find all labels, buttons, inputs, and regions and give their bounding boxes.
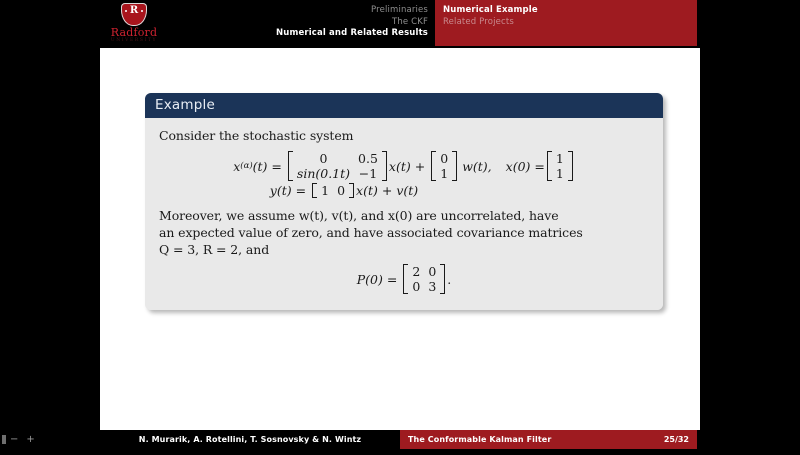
nav-item-numerical-example[interactable]: Numerical Example xyxy=(443,5,683,17)
equation-output: y(t) = 1 0 x(t) xyxy=(159,183,649,198)
bracket-right-icon xyxy=(440,264,445,294)
matrix-a-cell-1-0: sin(0.1t) xyxy=(293,166,354,181)
nav-subsections-right: Numerical Example Related Projects xyxy=(443,5,683,28)
equation-output-x-of-t: x(t) xyxy=(356,183,378,198)
viewer-drag-handle[interactable] xyxy=(2,435,6,444)
matrix-x0: 1 1 xyxy=(547,151,573,181)
equation-output-equals: = xyxy=(292,183,310,198)
equation-covariance-period: . xyxy=(447,272,451,287)
nav-item-the-ckf[interactable]: The CKF xyxy=(180,17,428,29)
assumptions-paragraph: Moreover, we assume w(t), v(t), and x(0)… xyxy=(159,207,649,258)
footer-title-bar: The Conformable Kalman Filter 25/32 xyxy=(400,430,697,449)
assumptions-line-3: Q = 3, R = 2, and xyxy=(159,241,649,258)
example-block-title: Example xyxy=(145,93,663,118)
equation-output-plus: + xyxy=(378,183,396,198)
viewer-zoom-controls[interactable]: −+ xyxy=(2,432,92,448)
equation-state: x(α)(t) = 0 0.5 sin(0.1t) xyxy=(159,151,649,181)
matrix-p0-cell-1-1: 3 xyxy=(424,279,440,294)
logo-wordmark: Radford xyxy=(101,27,167,38)
equation-state-plus: + xyxy=(411,159,429,174)
bracket-right-icon xyxy=(568,151,573,181)
shield-dot-left xyxy=(125,10,127,12)
matrix-p0-cell-0-0: 2 xyxy=(408,264,424,279)
equation-covariance: P(0) = 2 0 0 3 xyxy=(357,264,452,294)
footer-presentation-title: The Conformable Kalman Filter xyxy=(408,430,551,449)
equation-group: x(α)(t) = 0 0.5 sin(0.1t) xyxy=(159,151,649,198)
example-block-body: Consider the stochastic system x(α)(t) =… xyxy=(145,118,663,310)
equation-output-noise: v(t) xyxy=(396,183,418,198)
matrix-a-cell-0-1: 0.5 xyxy=(354,151,382,166)
equation-state-noise: w(t), xyxy=(462,159,491,174)
matrix-a: 0 0.5 sin(0.1t) −1 xyxy=(288,151,387,181)
bracket-right-icon xyxy=(452,151,457,181)
matrix-c-cell-0-1: 0 xyxy=(333,183,349,198)
footer-authors: N. Murarik, A. Rotellini, T. Sosnovsky &… xyxy=(100,430,400,449)
presentation-header: R Radford UNIVERSITY Preliminaries The C… xyxy=(0,0,800,48)
bracket-right-icon xyxy=(382,151,387,181)
matrix-c: 1 0 xyxy=(312,183,354,198)
zoom-out-icon[interactable]: − xyxy=(10,432,18,448)
footer-page-number: 25/32 xyxy=(664,430,689,449)
matrix-p0-cell-0-1: 0 xyxy=(424,264,440,279)
example-intro-text: Consider the stochastic system xyxy=(159,127,649,144)
matrix-a-cell-1-1: −1 xyxy=(354,166,382,181)
matrix-a-cell-0-0: 0 xyxy=(293,151,354,166)
equation-covariance-wrapper: P(0) = 2 0 0 3 xyxy=(159,264,649,294)
equation-output-lhs: y(t) xyxy=(270,183,292,198)
zoom-in-icon[interactable]: + xyxy=(26,432,34,448)
equation-covariance-lhs: P(0) xyxy=(357,272,383,287)
shield-icon: R xyxy=(121,3,147,26)
equation-state-lhs: x xyxy=(233,159,240,174)
equation-state-lhs-arg: (t) xyxy=(253,159,268,174)
matrix-b: 0 1 xyxy=(431,151,457,181)
equation-covariance-equals: = xyxy=(383,272,401,287)
matrix-p0: 2 0 0 3 xyxy=(403,264,445,294)
bracket-right-icon xyxy=(349,183,354,198)
matrix-p0-cell-1-0: 0 xyxy=(408,279,424,294)
shield-dot-right xyxy=(141,10,143,12)
nav-item-numerical-and-related-results[interactable]: Numerical and Related Results xyxy=(180,28,428,40)
equation-state-equals: = xyxy=(267,159,285,174)
assumptions-line-2: an expected value of zero, and have asso… xyxy=(159,224,649,241)
nav-item-related-projects[interactable]: Related Projects xyxy=(443,17,683,29)
slide-page: Example Consider the stochastic system x… xyxy=(100,48,700,430)
assumptions-line-1: Moreover, we assume w(t), v(t), and x(0)… xyxy=(159,207,649,224)
nav-item-preliminaries[interactable]: Preliminaries xyxy=(180,5,428,17)
matrix-b-cell-1-0: 1 xyxy=(436,166,452,181)
example-block: Example Consider the stochastic system x… xyxy=(145,93,663,310)
radford-university-logo: R Radford UNIVERSITY xyxy=(101,2,167,47)
logo-sub-wordmark: UNIVERSITY xyxy=(101,38,167,44)
matrix-x0-cell-1-0: 1 xyxy=(552,166,568,181)
matrix-c-cell-0-0: 1 xyxy=(317,183,333,198)
nav-sections-left: Preliminaries The CKF Numerical and Rela… xyxy=(180,5,428,40)
matrix-x0-cell-0-0: 1 xyxy=(552,151,568,166)
pdf-viewer: R Radford UNIVERSITY Preliminaries The C… xyxy=(0,0,800,455)
matrix-b-cell-0-0: 0 xyxy=(436,151,452,166)
equation-state-initial-label: x(0) = xyxy=(506,159,545,174)
equation-state-x-of-t: x(t) xyxy=(389,159,411,174)
equation-state-lhs-superscript: (α) xyxy=(240,161,252,171)
